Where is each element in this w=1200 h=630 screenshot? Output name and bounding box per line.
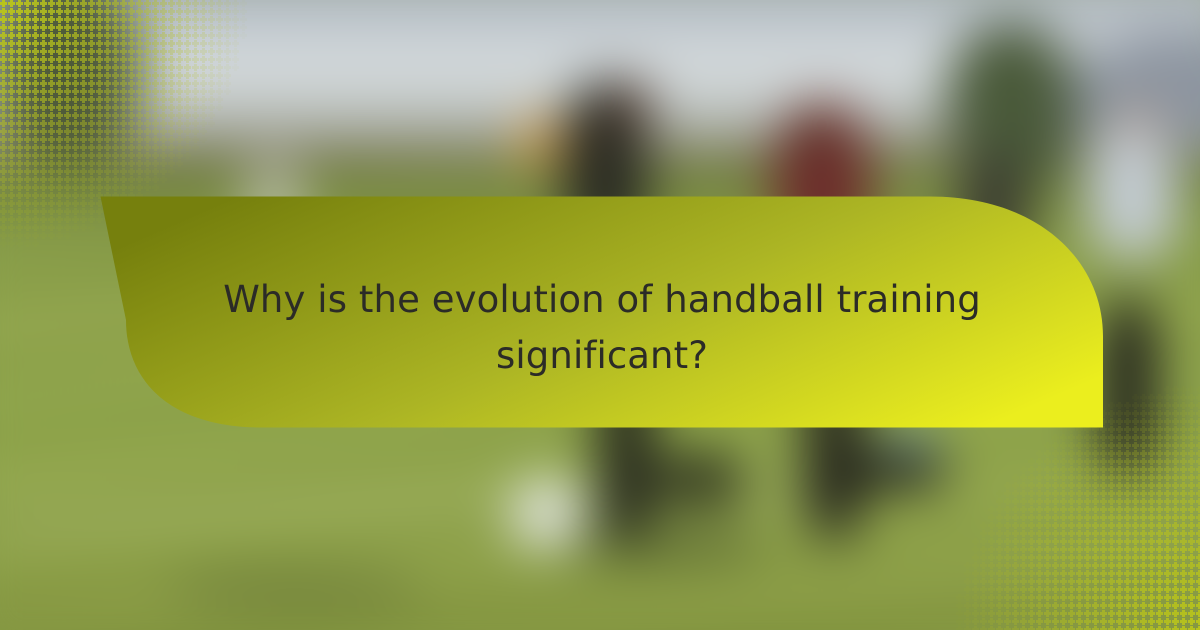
background-player-distant [242, 159, 306, 255]
background-player-three-body [1086, 130, 1178, 260]
background-boot-left [651, 457, 747, 499]
background-player-one-arm [517, 116, 569, 168]
headline-text: Why is the evolution of handball trainin… [180, 272, 1024, 384]
background-player-three-leg [1099, 301, 1157, 476]
background-player-four-body [958, 152, 1028, 272]
background-boot-right [843, 450, 947, 490]
background-player-two-head [792, 106, 836, 156]
background-ground-shadow [549, 521, 769, 561]
banner-stage: Why is the evolution of handball trainin… [0, 0, 1200, 630]
background-ground-shadow-left [165, 571, 425, 605]
background-player-two-leg [805, 358, 863, 538]
background-player-one-head [606, 81, 652, 133]
